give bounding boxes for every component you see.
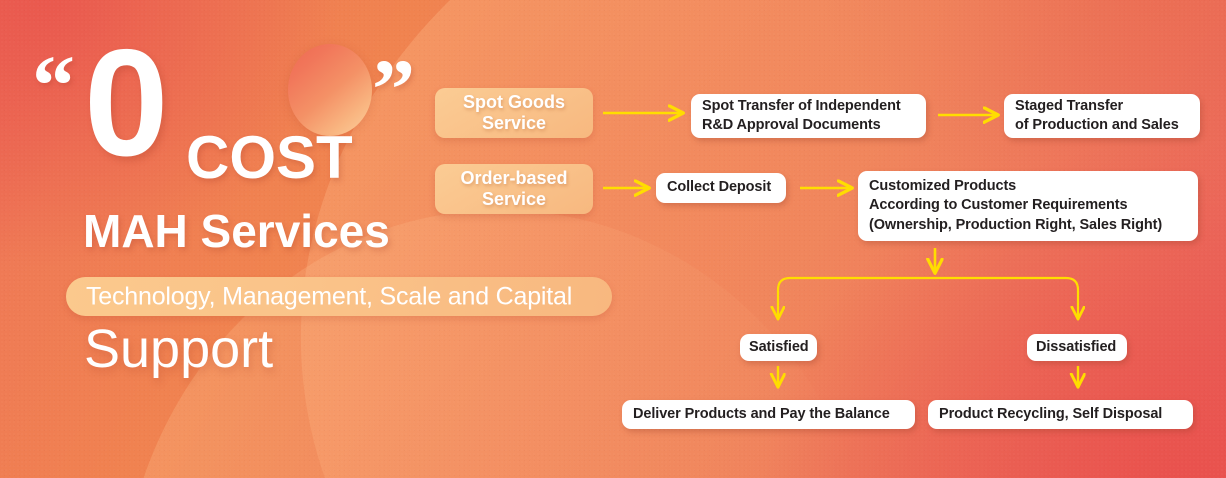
flow-node-spot-transfer-label: Spot Transfer of Independent R&D Approva… — [702, 97, 901, 135]
flow-node-dissatisfied[interactable]: Dissatisfied — [1027, 334, 1127, 361]
open-quote-icon: “ — [32, 42, 72, 128]
tagline-text: Technology, Management, Scale and Capita… — [86, 282, 572, 311]
flow-node-product-recycling[interactable]: Product Recycling, Self Disposal — [928, 400, 1193, 429]
close-quote-icon: ” — [372, 46, 412, 132]
service-pill-spot-goods-label: Spot Goods Service — [463, 92, 565, 134]
flow-node-customized-products[interactable]: Customized Products According to Custome… — [858, 171, 1198, 241]
flow-node-collect-deposit[interactable]: Collect Deposit — [656, 173, 786, 203]
flow-node-staged-transfer-label: Staged Transfer of Production and Sales — [1015, 97, 1179, 135]
arrow-branch-left — [778, 278, 935, 318]
tagline-pill: Technology, Management, Scale and Capita… — [66, 277, 612, 316]
flow-node-dissatisfied-label: Dissatisfied — [1036, 338, 1116, 357]
flow-node-satisfied-label: Satisfied — [749, 338, 809, 357]
flow-node-product-recycling-label: Product Recycling, Self Disposal — [939, 405, 1162, 424]
flow-node-staged-transfer[interactable]: Staged Transfer of Production and Sales — [1004, 94, 1200, 138]
mah-services-banner: “ ” 0 COST MAH Services Technology, Mana… — [0, 0, 1226, 478]
flow-node-deliver-products-label: Deliver Products and Pay the Balance — [633, 405, 890, 424]
service-pill-order-based[interactable]: Order-based Service — [435, 164, 593, 214]
flow-node-collect-deposit-label: Collect Deposit — [667, 178, 771, 197]
flow-node-spot-transfer[interactable]: Spot Transfer of Independent R&D Approva… — [691, 94, 926, 138]
flow-node-deliver-products[interactable]: Deliver Products and Pay the Balance — [622, 400, 915, 429]
arrow-branch-right — [935, 278, 1078, 318]
headline-cost: COST — [186, 128, 353, 188]
headline-subtitle: MAH Services — [83, 208, 390, 254]
headline-zero: 0 — [84, 27, 167, 179]
headline-support: Support — [84, 322, 273, 376]
service-pill-spot-goods[interactable]: Spot Goods Service — [435, 88, 593, 138]
flow-node-customized-products-label: Customized Products According to Custome… — [869, 177, 1162, 234]
service-pill-order-based-label: Order-based Service — [460, 168, 567, 210]
flow-node-satisfied[interactable]: Satisfied — [740, 334, 817, 361]
hero-block: “ ” 0 COST MAH Services Technology, Mana… — [0, 0, 640, 478]
